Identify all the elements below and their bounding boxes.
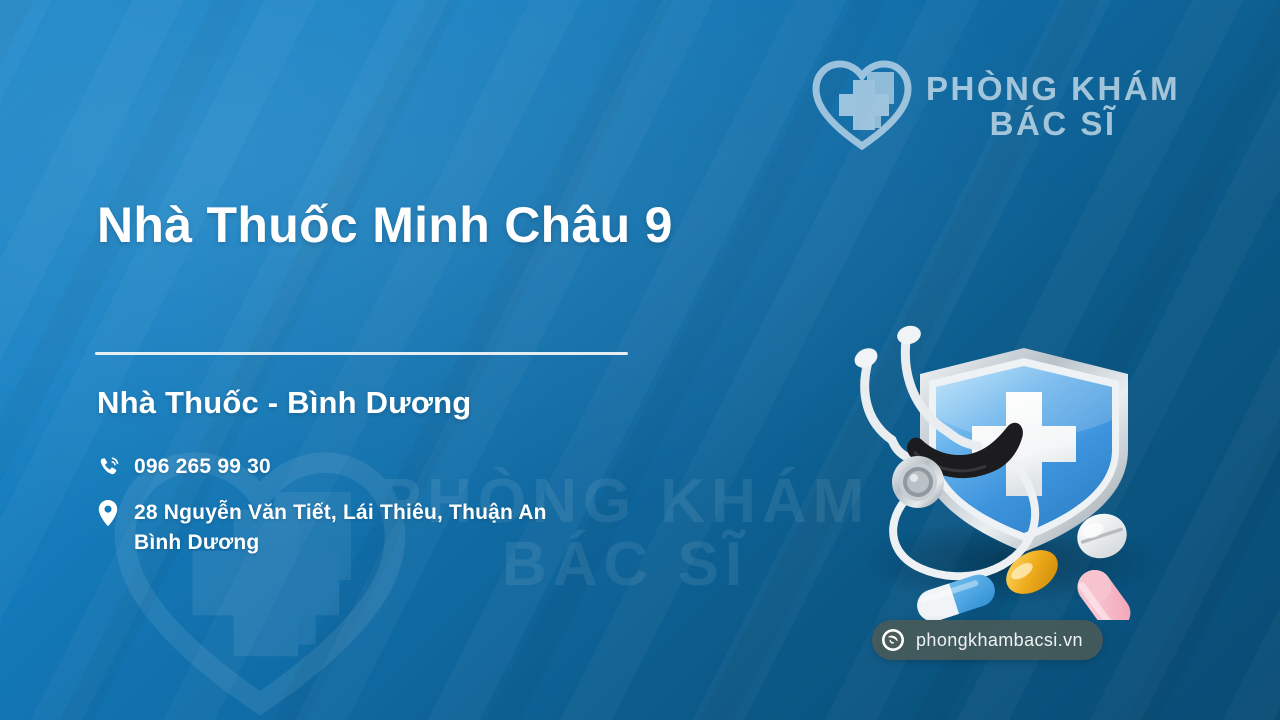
- brand-logo-text: PHÒNG KHÁM BÁC SĨ: [926, 72, 1180, 141]
- phone-icon: [96, 452, 120, 482]
- contact-info: 096 265 99 30 28 Nguyễn Văn Tiết, Lái Th…: [96, 452, 716, 575]
- title-divider: [95, 352, 628, 355]
- contact-phone-value: 096 265 99 30: [134, 452, 271, 482]
- page-title: Nhà Thuốc Minh Châu 9: [97, 196, 673, 254]
- contact-address-line-1: 28 Nguyễn Văn Tiết, Lái Thiêu, Thuận An: [134, 501, 547, 524]
- heart-cross-logo-icon: [812, 58, 912, 155]
- contact-address-line-2: Bình Dương: [134, 528, 547, 558]
- brand-logo-line-2: BÁC SĨ: [926, 107, 1180, 141]
- website-url-text: phongkhambacsi.vn: [916, 630, 1083, 651]
- brand-logo: PHÒNG KHÁM BÁC SĨ: [812, 58, 1180, 155]
- contact-phone-row[interactable]: 096 265 99 30: [96, 452, 716, 482]
- globe-icon: [881, 628, 905, 652]
- contact-address-value: 28 Nguyễn Văn Tiết, Lái Thiêu, Thuận An …: [134, 498, 547, 558]
- medical-shield-stethoscope-pills-illustration: [836, 300, 1176, 620]
- page-subtitle: Nhà Thuốc - Bình Dương: [97, 385, 471, 421]
- pharmacy-info-banner: PHÒNG KHÁM BÁC SĨ PHÒNG KHÁM BÁC SĨ Nhà …: [0, 0, 1280, 720]
- brand-logo-line-1: PHÒNG KHÁM: [926, 72, 1180, 106]
- location-pin-icon: [96, 498, 120, 528]
- website-badge[interactable]: phongkhambacsi.vn: [872, 620, 1103, 660]
- contact-address-row[interactable]: 28 Nguyễn Văn Tiết, Lái Thiêu, Thuận An …: [96, 498, 716, 558]
